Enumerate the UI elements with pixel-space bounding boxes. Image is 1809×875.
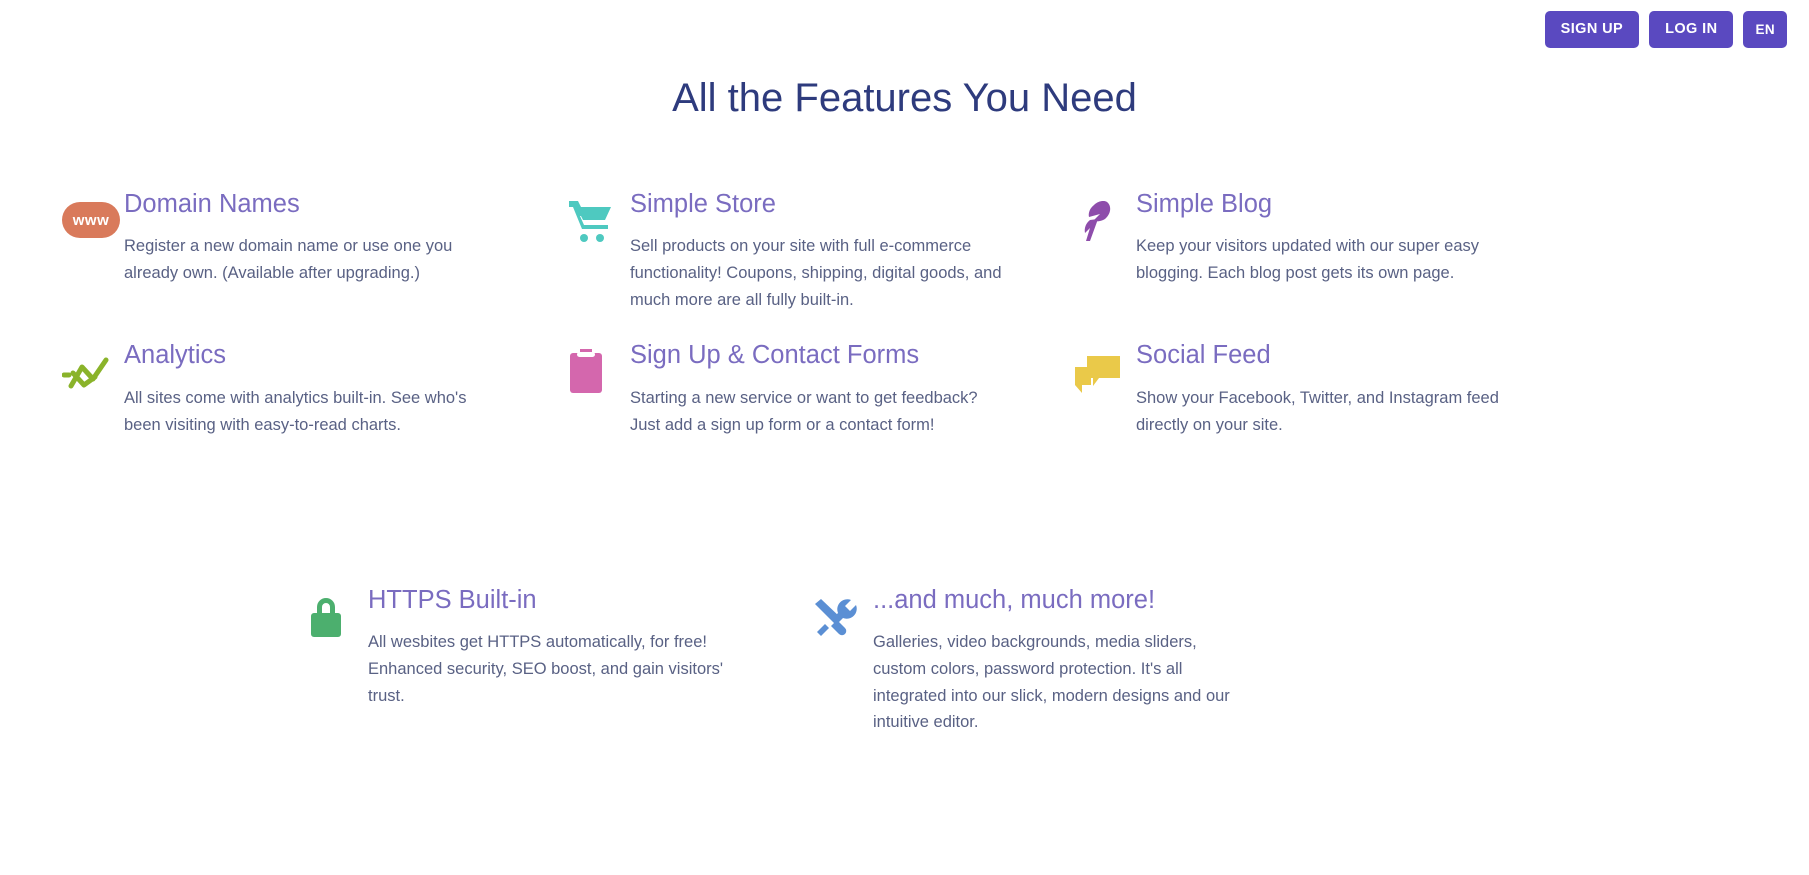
feature-title: ...and much, much more! (873, 586, 1251, 615)
clipboard-icon (568, 347, 604, 395)
feature-description: Sell products on your site with full e-c… (630, 233, 1006, 313)
feature-body: ...and much, much more! Galleries, video… (869, 586, 1251, 736)
feature-description: Starting a new service or want to get fe… (630, 385, 1006, 438)
feature-description: Keep your visitors updated with our supe… (1136, 233, 1512, 286)
feature-title: Simple Blog (1136, 190, 1512, 219)
feature-https-built-in: HTTPS Built-in All wesbites get HTTPS au… (306, 586, 746, 736)
line-chart-icon (62, 355, 110, 395)
feature-simple-store: Simple Store Sell products on your site … (568, 190, 1006, 313)
icon-container (811, 586, 869, 644)
feature-body: Analytics All sites come with analytics … (120, 341, 500, 438)
icon-container (568, 190, 626, 248)
speech-bubbles-icon (1074, 353, 1122, 395)
feature-body: Domain Names Register a new domain name … (120, 190, 500, 287)
feature-simple-blog: Simple Blog Keep your visitors updated w… (1074, 190, 1512, 313)
icon-container (306, 586, 364, 644)
tools-icon (811, 598, 859, 640)
feature-title: Domain Names (124, 190, 500, 219)
shopping-cart-icon (568, 198, 616, 242)
page-title: All the Features You Need (0, 74, 1809, 122)
sign-up-button[interactable]: SIGN UP (1545, 11, 1639, 48)
feature-body: HTTPS Built-in All wesbites get HTTPS au… (364, 586, 746, 709)
feature-description: Register a new domain name or use one yo… (124, 233, 500, 286)
feature-domain-names: www Domain Names Register a new domain n… (62, 190, 500, 313)
feature-much-much-more: ...and much, much more! Galleries, video… (811, 586, 1251, 736)
www-pill-icon-label: www (73, 212, 110, 229)
icon-container (568, 341, 626, 399)
feature-description: Galleries, video backgrounds, media slid… (873, 629, 1251, 736)
icon-container (62, 341, 120, 399)
log-in-button[interactable]: LOG IN (1649, 11, 1733, 48)
feature-social-feed: Social Feed Show your Facebook, Twitter,… (1074, 341, 1512, 438)
feature-analytics: Analytics All sites come with analytics … (62, 341, 500, 438)
feature-title: HTTPS Built-in (368, 586, 746, 615)
icon-container (1074, 190, 1132, 248)
feature-title: Simple Store (630, 190, 1006, 219)
feature-signup-contact-forms: Sign Up & Contact Forms Starting a new s… (568, 341, 1006, 438)
feature-title: Analytics (124, 341, 500, 370)
lock-icon (306, 592, 346, 638)
feature-description: Show your Facebook, Twitter, and Instagr… (1136, 385, 1512, 438)
feature-title: Social Feed (1136, 341, 1512, 370)
top-navigation-bar: SIGN UP LOG IN EN (0, 0, 1809, 58)
feature-body: Sign Up & Contact Forms Starting a new s… (626, 341, 1006, 438)
feature-body: Social Feed Show your Facebook, Twitter,… (1132, 341, 1512, 438)
features-grid: www Domain Names Register a new domain n… (62, 190, 1752, 438)
feature-body: Simple Store Sell products on your site … (626, 190, 1006, 313)
features-page: SIGN UP LOG IN EN All the Features You N… (0, 0, 1809, 875)
icon-container: www (62, 190, 120, 248)
bottom-features-grid: HTTPS Built-in All wesbites get HTTPS au… (306, 586, 1506, 736)
feather-icon (1074, 198, 1114, 248)
www-pill-icon: www (62, 202, 120, 238)
language-selector-button[interactable]: EN (1743, 11, 1787, 48)
feature-description: All sites come with analytics built-in. … (124, 385, 500, 438)
feature-description: All wesbites get HTTPS automatically, fo… (368, 629, 746, 709)
icon-container (1074, 341, 1132, 399)
feature-title: Sign Up & Contact Forms (630, 341, 1006, 370)
feature-body: Simple Blog Keep your visitors updated w… (1132, 190, 1512, 287)
